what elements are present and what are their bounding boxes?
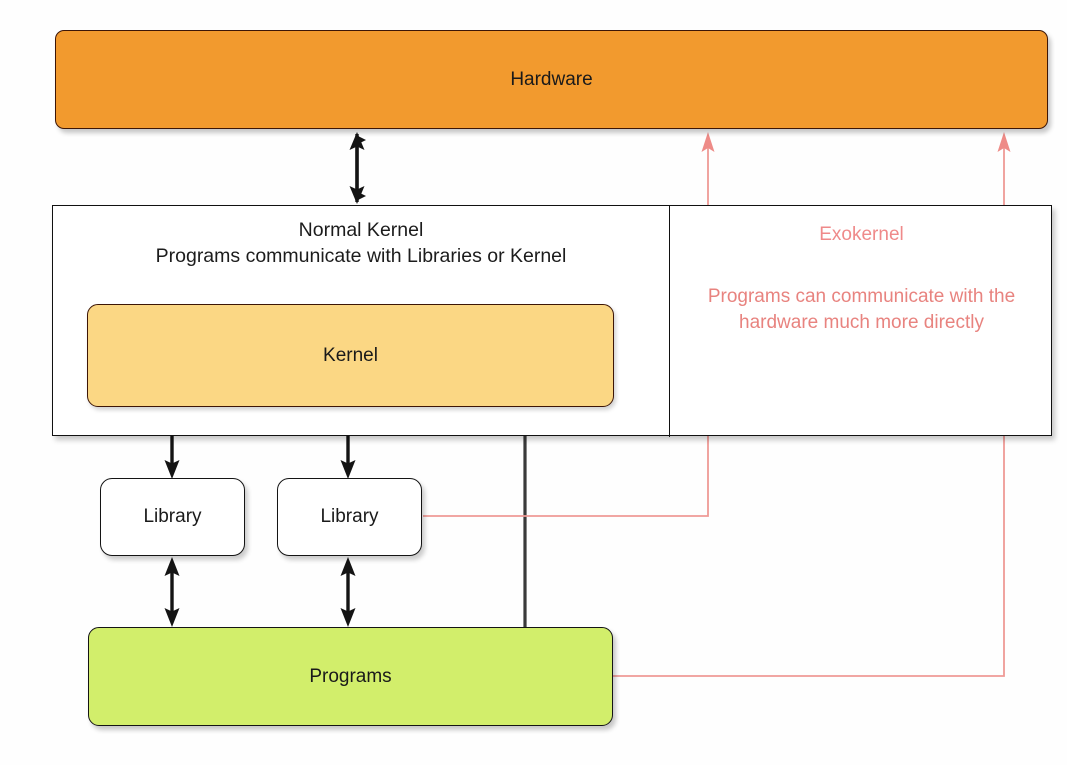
kernel-block[interactable]: Kernel bbox=[87, 304, 614, 407]
edge-programs-kernel-direct bbox=[518, 405, 533, 627]
programs-label: Programs bbox=[309, 666, 391, 688]
library-block-one[interactable]: Library bbox=[100, 478, 245, 556]
normal-kernel-title: Normal Kernel bbox=[53, 217, 669, 243]
exokernel-panel: Exokernel Programs can communicate with … bbox=[670, 206, 1053, 437]
edge-hardware-kernel bbox=[350, 132, 365, 204]
exokernel-description: Programs can communicate with the hardwa… bbox=[706, 284, 1017, 336]
normal-kernel-heading: Normal Kernel Programs communicate with … bbox=[53, 217, 669, 269]
normal-kernel-panel: Normal Kernel Programs communicate with … bbox=[53, 206, 669, 437]
diagram-canvas: Hardware Normal Kernel Programs communic… bbox=[0, 0, 1067, 765]
library-block-two[interactable]: Library bbox=[277, 478, 422, 556]
normal-kernel-subtitle: Programs communicate with Libraries or K… bbox=[53, 243, 669, 269]
kernel-comparison-frame: Normal Kernel Programs communicate with … bbox=[52, 205, 1052, 436]
kernel-label: Kernel bbox=[323, 345, 378, 367]
library-two-label: Library bbox=[320, 506, 378, 528]
edge-library-one-programs bbox=[165, 557, 180, 627]
hardware-block[interactable]: Hardware bbox=[55, 30, 1048, 129]
exokernel-title: Exokernel bbox=[670, 224, 1053, 246]
programs-block[interactable]: Programs bbox=[88, 627, 613, 726]
library-one-label: Library bbox=[143, 506, 201, 528]
edge-library-two-programs bbox=[341, 557, 356, 627]
hardware-label: Hardware bbox=[510, 69, 592, 91]
